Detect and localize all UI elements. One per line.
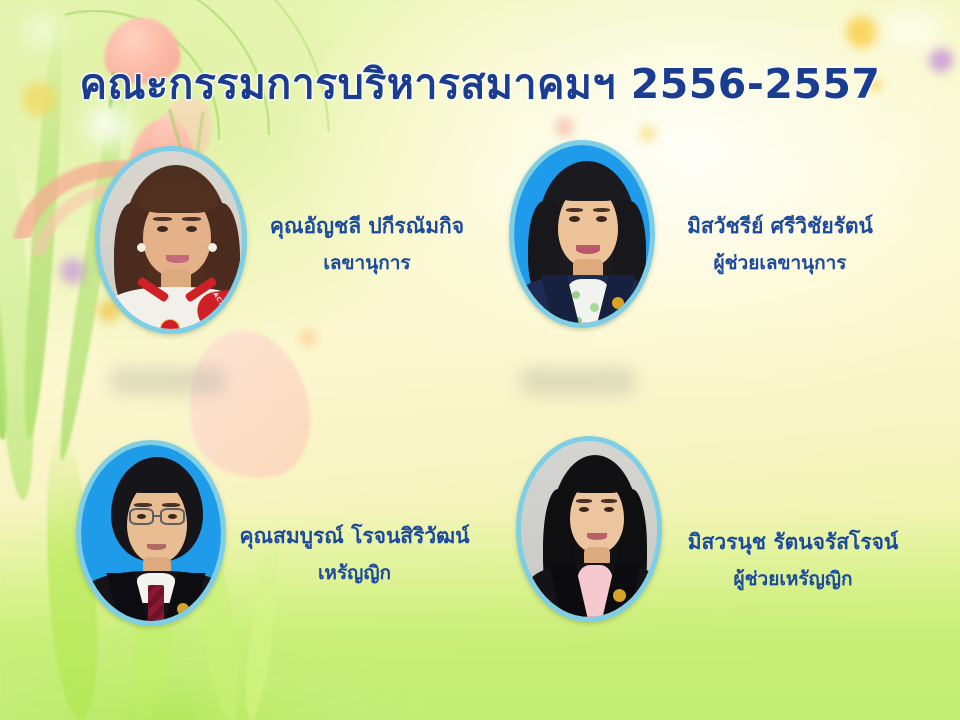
mouth-shape: [147, 544, 166, 550]
person-role: ผู้ช่วยเหรัญญิก: [668, 565, 918, 594]
avatar[interactable]: ACTIVE: [95, 146, 247, 334]
portrait-photo-2: [514, 145, 650, 323]
page-title: คณะกรรมการบริหารสมาคมฯ 2556-2557: [0, 52, 960, 117]
eye-shape: [604, 507, 614, 512]
eyebrow-shape: [153, 217, 172, 221]
eyebrow-shape: [162, 503, 180, 507]
portrait-photo-1: ACTIVE: [100, 151, 242, 329]
person-label: คุณอัญชลี ปกีรณัมกิจ เลขานุการ: [252, 212, 482, 278]
lapel-pin-icon: [177, 603, 189, 615]
person-role: ผู้ช่วยเลขานุการ: [660, 249, 900, 278]
grass-blade-icon: [0, 120, 40, 501]
slide-canvas: คณะกรรมการบริหารสมาคมฯ 2556-2557: [0, 0, 960, 720]
portrait-photo-4: [521, 441, 657, 617]
photo-shadow-artifact: [520, 368, 636, 394]
person-name: คุณอัญชลี ปกีรณัมกิจ: [252, 212, 482, 240]
bokeh-dot-icon: [60, 258, 86, 284]
eye-shape: [596, 216, 607, 222]
bokeh-dot-icon: [556, 118, 574, 136]
eye-shape: [168, 514, 177, 519]
lapel-pin-icon: [613, 589, 626, 602]
photo-shadow-artifact: [724, 680, 844, 702]
eye-shape: [186, 226, 197, 232]
eyebrow-shape: [134, 503, 152, 507]
mouth-shape: [576, 245, 600, 254]
eyebrow-shape: [593, 208, 610, 212]
bokeh-dot-icon: [640, 126, 655, 141]
earring-icon: [137, 243, 146, 252]
lapel-pin-icon: [612, 297, 624, 309]
mouth-shape: [587, 533, 607, 540]
bokeh-dot-icon: [846, 16, 878, 48]
eyebrow-shape: [576, 499, 592, 503]
mouth-shape: [166, 255, 189, 263]
eye-shape: [569, 216, 580, 222]
person-role: เหรัญญิก: [222, 559, 487, 588]
earring-icon: [208, 243, 217, 252]
photo-shadow-artifact: [110, 368, 226, 394]
blouse-floral-dot: [572, 291, 580, 299]
person-label: มิสวรนุช รัตนจรัสโรจน์ ผู้ช่วยเหรัญญิก: [668, 528, 918, 594]
person-name: มิสวัชรีย์ ศรีวิชัยรัตน์: [660, 212, 900, 240]
person-role: เลขานุการ: [252, 249, 482, 278]
bokeh-dot-icon: [140, 700, 196, 720]
eyeglasses-bridge-icon: [153, 515, 161, 517]
person-label: คุณสมบูรณ์ โรจนสิริวัฒน์ เหรัญญิก: [222, 522, 487, 588]
bokeh-dot-icon: [880, 10, 944, 50]
bokeh-dot-icon: [300, 330, 316, 346]
eyebrow-shape: [601, 499, 617, 503]
person-label: มิสวัชรีย์ ศรีวิชัยรัตน์ ผู้ช่วยเลขานุกา…: [660, 212, 900, 278]
avatar[interactable]: [516, 436, 662, 622]
blouse-floral-dot: [590, 303, 599, 312]
portrait-photo-3: [81, 445, 221, 621]
necktie-shape: [148, 585, 164, 621]
eye-shape: [579, 507, 589, 512]
eye-shape: [157, 226, 168, 232]
person-name: มิสวรนุช รัตนจรัสโรจน์: [668, 528, 918, 556]
person-name: คุณสมบูรณ์ โรจนสิริวัฒน์: [222, 522, 487, 550]
eye-shape: [137, 514, 146, 519]
avatar[interactable]: [76, 440, 226, 626]
avatar[interactable]: [509, 140, 655, 328]
bokeh-dot-icon: [30, 18, 56, 44]
eyebrow-shape: [566, 208, 583, 212]
eyebrow-shape: [182, 217, 201, 221]
